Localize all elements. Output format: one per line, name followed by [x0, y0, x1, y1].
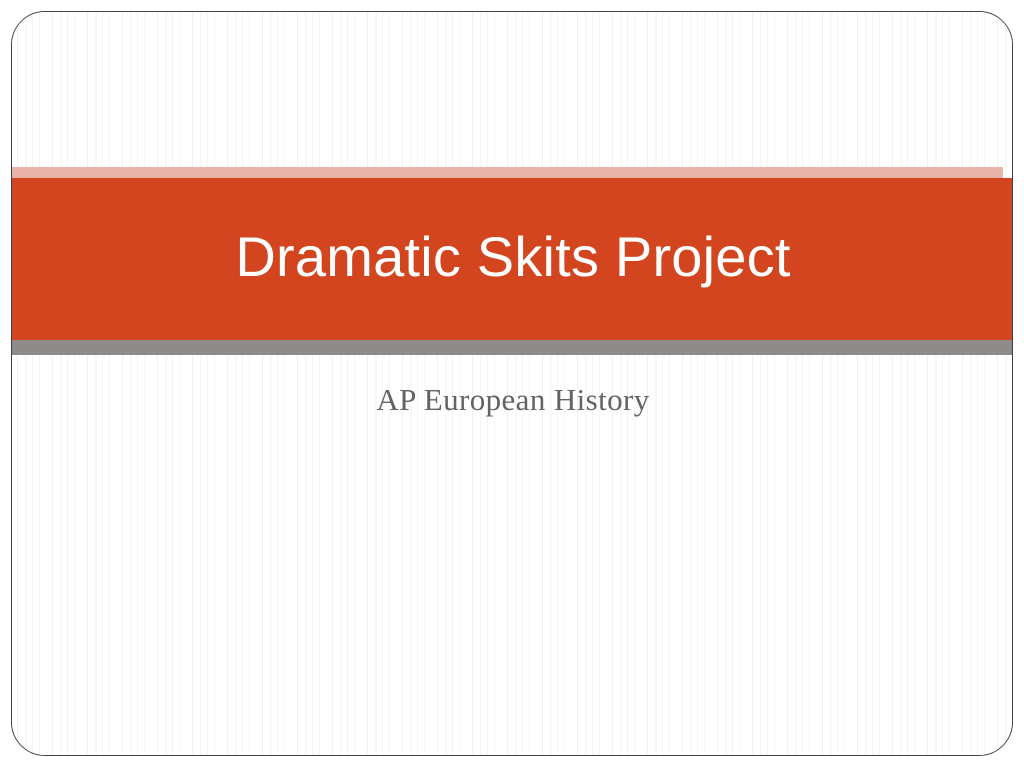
slide-content-area: [12, 432, 1013, 756]
subtitle-area: AP European History: [12, 370, 1013, 430]
slide-card: Dramatic Skits Project AP European Histo…: [11, 11, 1013, 756]
title-banner: Dramatic Skits Project: [12, 156, 1013, 356]
slide-root: Dramatic Skits Project AP European Histo…: [0, 0, 1024, 768]
accent-stripe-bottom: [12, 340, 1013, 355]
accent-stripe-top: [12, 167, 1003, 178]
slide-title: Dramatic Skits Project: [12, 178, 1013, 340]
title-band: Dramatic Skits Project: [12, 178, 1013, 340]
slide-subtitle: AP European History: [376, 382, 649, 418]
